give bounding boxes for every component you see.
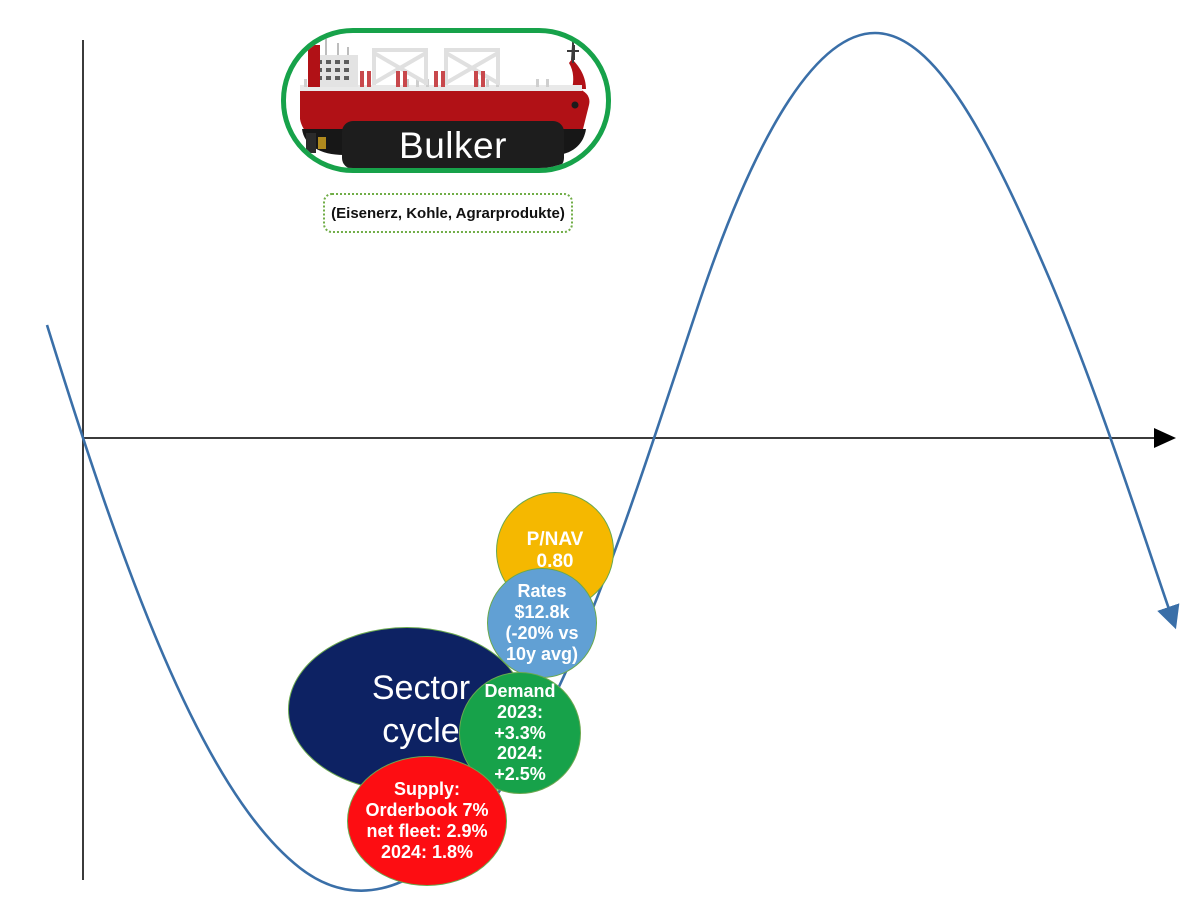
bubble-supply[interactable]: Supply: Orderbook 7% net fleet: 2.9% 202… <box>347 756 507 886</box>
bubble-sector-cycle-label: Sector cycle <box>370 667 472 752</box>
bubble-rates-label: Rates $12.8k (-20% vs 10y avg) <box>503 581 580 665</box>
slide-canvas: Bulker (Eisenerz, Kohle, Agrarprodukte) … <box>0 0 1185 914</box>
bubble-supply-label: Supply: Orderbook 7% net fleet: 2.9% 202… <box>363 779 490 863</box>
cargo-caption-box: (Eisenerz, Kohle, Agrarprodukte) <box>323 193 573 233</box>
bubble-rates[interactable]: Rates $12.8k (-20% vs 10y avg) <box>487 568 597 678</box>
cycle-curve <box>47 33 1170 891</box>
cargo-caption-text: (Eisenerz, Kohle, Agrarprodukte) <box>331 205 565 222</box>
bubble-demand-label: Demand 2023: +3.3% 2024: +2.5% <box>482 681 557 785</box>
bulker-label-badge: Bulker <box>342 121 564 169</box>
bulker-label: Bulker <box>399 127 507 164</box>
bubble-pnav-label: P/NAV 0.80 <box>525 529 586 573</box>
ship-card[interactable]: Bulker <box>281 28 611 173</box>
